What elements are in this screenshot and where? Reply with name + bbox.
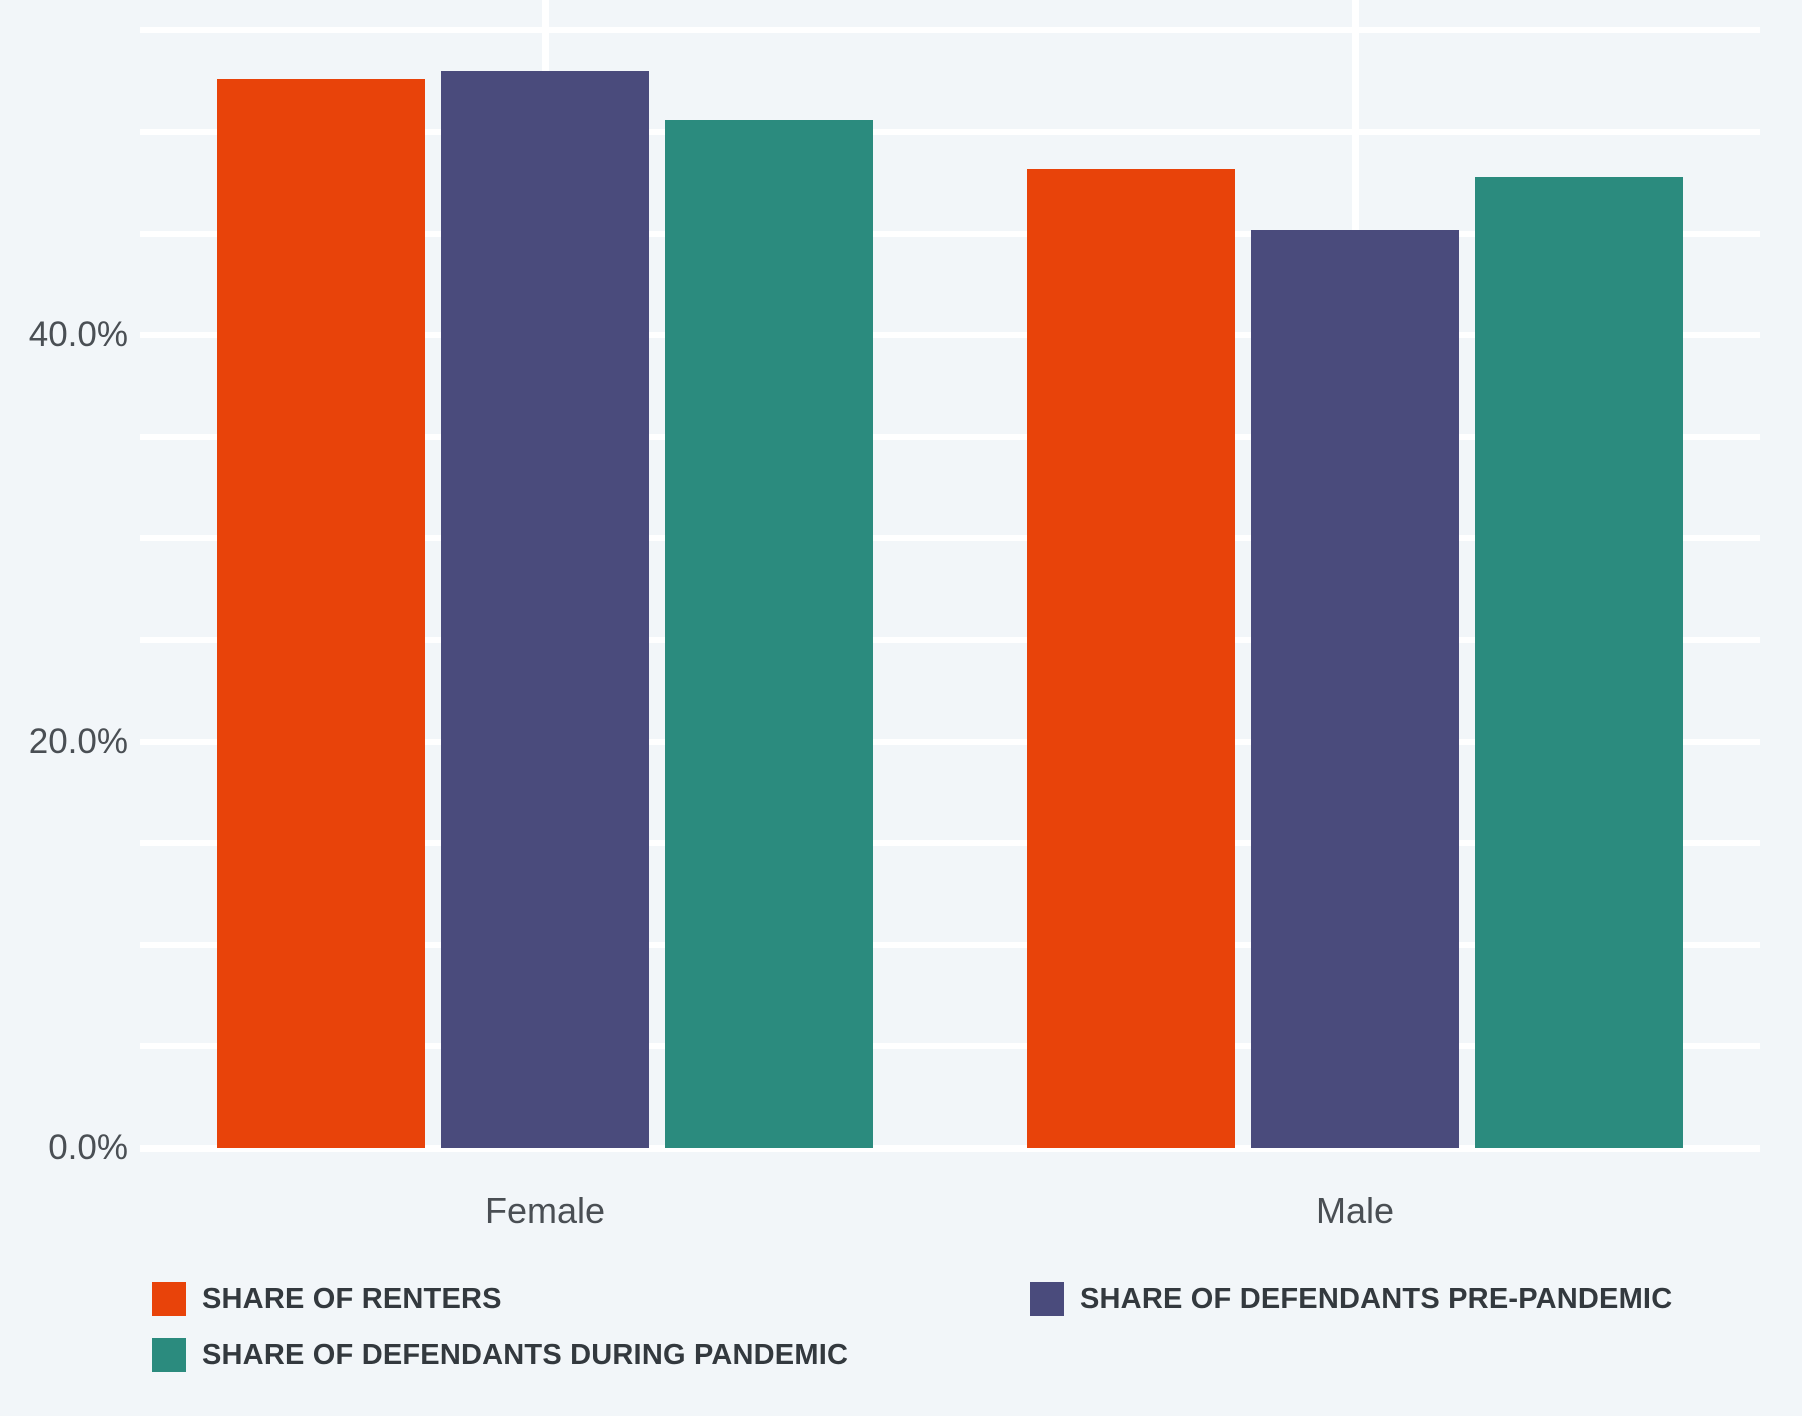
legend-item[interactable]: SHARE OF DEFENDANTS DURING PANDEMIC — [152, 1338, 848, 1372]
legend-item[interactable]: SHARE OF RENTERS — [152, 1282, 502, 1316]
legend-swatch-icon — [1030, 1282, 1064, 1316]
bar[interactable] — [1475, 177, 1683, 1148]
plot-area — [140, 0, 1760, 1148]
bar[interactable] — [441, 71, 649, 1148]
chart-legend: SHARE OF RENTERSSHARE OF DEFENDANTS PRE-… — [152, 1282, 1772, 1392]
bar-chart: 0.0%20.0%40.0% FemaleMale SHARE OF RENTE… — [0, 0, 1802, 1416]
bar[interactable] — [665, 120, 873, 1148]
legend-swatch-icon — [152, 1282, 186, 1316]
bar[interactable] — [217, 79, 425, 1148]
legend-label: SHARE OF RENTERS — [202, 1283, 502, 1316]
x-axis-tick-label: Male — [1316, 1190, 1394, 1232]
bar-series-container — [140, 0, 1760, 1148]
y-axis-tick-label: 20.0% — [0, 722, 128, 762]
y-axis-tick-label: 40.0% — [0, 315, 128, 355]
legend-item[interactable]: SHARE OF DEFENDANTS PRE-PANDEMIC — [1030, 1282, 1672, 1316]
legend-swatch-icon — [152, 1338, 186, 1372]
legend-label: SHARE OF DEFENDANTS DURING PANDEMIC — [202, 1339, 848, 1372]
x-axis-tick-label: Female — [485, 1190, 605, 1232]
legend-label: SHARE OF DEFENDANTS PRE-PANDEMIC — [1080, 1283, 1672, 1316]
bar[interactable] — [1027, 169, 1235, 1148]
y-axis-tick-label: 0.0% — [0, 1128, 128, 1168]
bar[interactable] — [1251, 230, 1459, 1148]
